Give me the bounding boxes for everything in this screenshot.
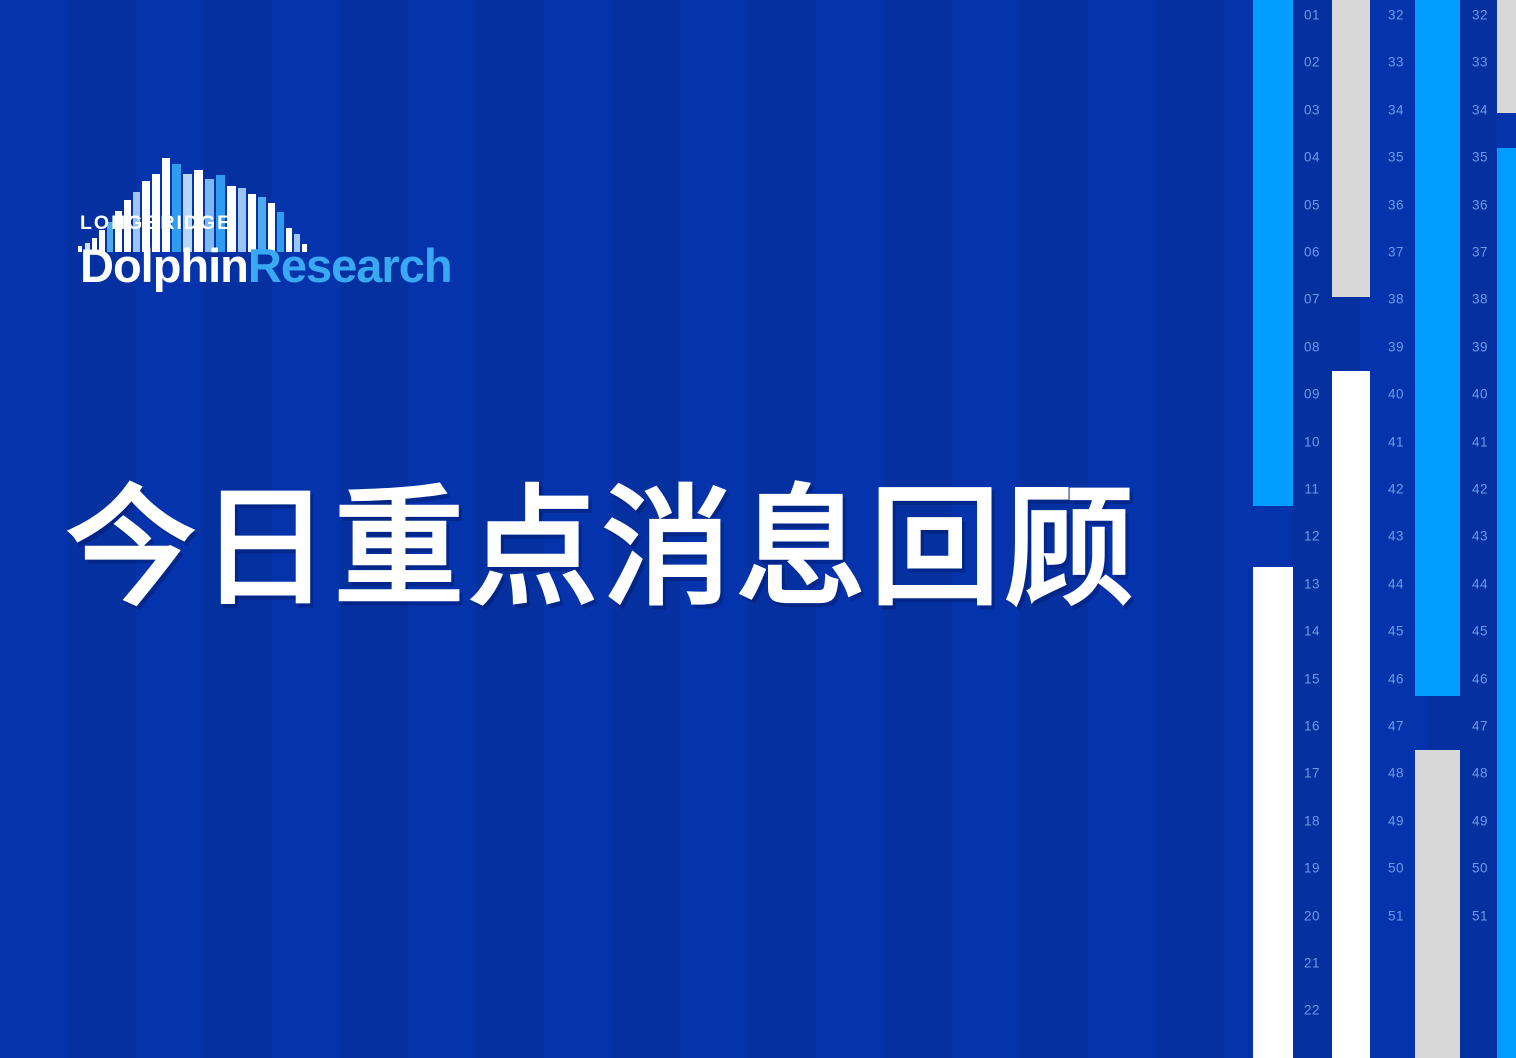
logo-dolphin-word: Dolphin [80,239,248,292]
rail-band [1332,371,1370,1058]
rail-band [1415,750,1460,1058]
rail-band [1253,567,1293,1058]
logo-longbridge-text: LONGBRIDGE [80,214,400,234]
logo-dolphin-research-text: DolphinResearch [80,242,400,289]
rail-band [1497,0,1516,113]
rail-band [1332,0,1370,297]
rail-cyan-left [1253,0,1293,1058]
longbridge-dolphin-research-logo: LONGBRIDGE DolphinResearch [78,152,398,312]
rail-band [1497,148,1516,1058]
rail-edge-right [1497,0,1516,1058]
poster-canvas: LONGBRIDGE DolphinResearch 今日重点消息回顾 0102… [0,0,1516,1058]
logo-wordmark: LONGBRIDGE DolphinResearch [80,214,400,289]
logo-research-word: Research [248,239,452,292]
rail-band [1415,0,1460,696]
page-title: 今日重点消息回顾 [66,478,1138,618]
rail-band [1253,0,1293,506]
rail-gray-white-mid [1332,0,1370,1058]
rail-cyan-right [1415,0,1460,1058]
